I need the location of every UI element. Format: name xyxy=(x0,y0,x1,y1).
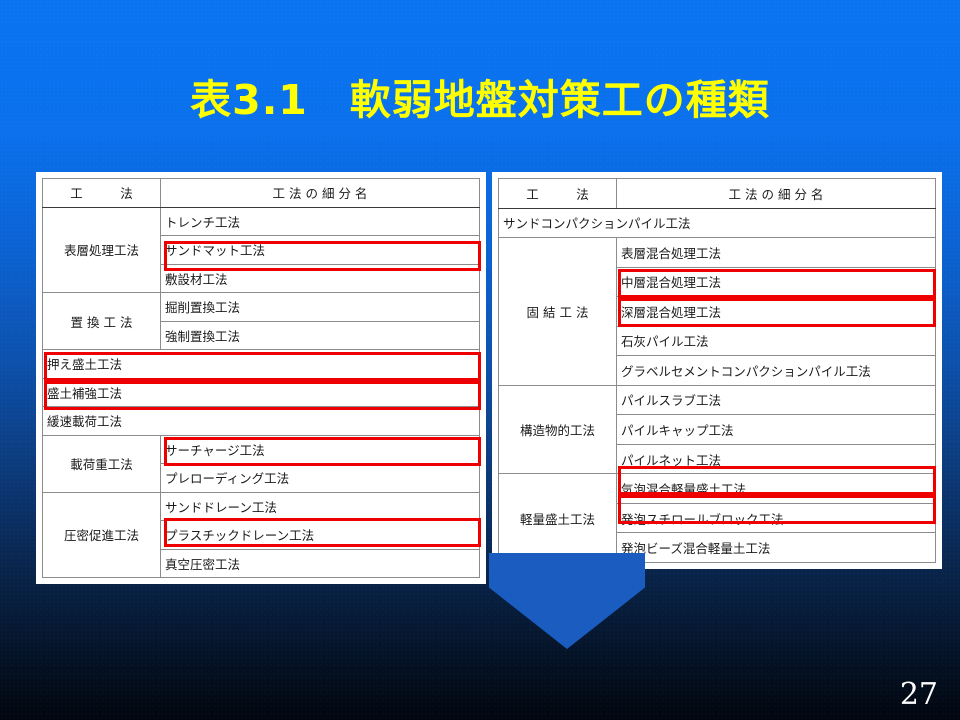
table-row: 軽量盛土工法 気泡混合軽量盛土工法 xyxy=(499,474,936,504)
detail-cell: 発泡スチロールブロック工法 xyxy=(616,503,935,533)
table-row: 表層処理工法 トレンチ工法 xyxy=(43,207,480,236)
page-number: 27 xyxy=(900,680,938,710)
header-detail: 工 法 の 細 分 名 xyxy=(160,179,479,208)
table-row: サンドコンパクションパイル工法 xyxy=(499,208,936,238)
fullwidth-cell: 緩速載荷工法 xyxy=(43,407,480,436)
detail-cell: 気泡混合軽量盛土工法 xyxy=(616,474,935,504)
detail-cell: サンドドレーン工法 xyxy=(160,492,479,521)
detail-cell: 中層混合処理工法 xyxy=(616,267,935,297)
right-table-frame: 工 法 工 法 の 細 分 名 サンドコンパクションパイル工法 固 結 工 法 … xyxy=(492,172,942,569)
left-table: 工 法 工 法 の 細 分 名 表層処理工法 トレンチ工法 サンドマット工法 敷… xyxy=(42,178,480,578)
arrow-down-icon xyxy=(489,553,645,649)
header-category: 工 法 xyxy=(43,179,161,208)
category-chikan: 置 換 工 法 xyxy=(43,293,161,350)
category-kouzoubutsu: 構造物的工法 xyxy=(499,385,617,474)
table-row: 固 結 工 法 表層混合処理工法 xyxy=(499,238,936,268)
right-table: 工 法 工 法 の 細 分 名 サンドコンパクションパイル工法 固 結 工 法 … xyxy=(498,178,936,563)
detail-cell: 真空圧密工法 xyxy=(160,549,479,578)
table-header-row: 工 法 工 法 の 細 分 名 xyxy=(43,179,480,208)
category-saikajuu: 載荷重工法 xyxy=(43,435,161,492)
category-attsumitsu: 圧密促進工法 xyxy=(43,492,161,578)
fullwidth-cell: 盛土補強工法 xyxy=(43,378,480,407)
table-row: 盛土補強工法 xyxy=(43,378,480,407)
detail-cell: サンドマット工法 xyxy=(160,236,479,265)
page-title: 表3.1 軟弱地盤対策工の種類 xyxy=(0,78,960,123)
detail-cell: 強制置換工法 xyxy=(160,321,479,350)
table-row: 載荷重工法 サーチャージ工法 xyxy=(43,435,480,464)
detail-cell: 掘削置換工法 xyxy=(160,293,479,322)
detail-cell: サーチャージ工法 xyxy=(160,435,479,464)
table-row: 押え盛土工法 xyxy=(43,350,480,379)
table-row: 置 換 工 法 掘削置換工法 xyxy=(43,293,480,322)
detail-cell: 石灰パイル工法 xyxy=(616,326,935,356)
detail-cell: パイルスラブ工法 xyxy=(616,385,935,415)
fullwidth-cell: サンドコンパクションパイル工法 xyxy=(499,208,936,238)
detail-cell: 発泡ビーズ混合軽量土工法 xyxy=(616,533,935,563)
category-keiryou-morido: 軽量盛土工法 xyxy=(499,474,617,563)
header-detail: 工 法 の 細 分 名 xyxy=(616,179,935,209)
table-row: 圧密促進工法 サンドドレーン工法 xyxy=(43,492,480,521)
category-koketsu: 固 結 工 法 xyxy=(499,238,617,386)
category-hyousou-shori: 表層処理工法 xyxy=(43,207,161,293)
detail-cell: プレローディング工法 xyxy=(160,464,479,493)
detail-cell: パイルネット工法 xyxy=(616,444,935,474)
fullwidth-cell: 押え盛土工法 xyxy=(43,350,480,379)
slide-canvas: 表3.1 軟弱地盤対策工の種類 工 法 工 法 の 細 分 名 表層処理工法 ト… xyxy=(0,0,960,720)
detail-cell: プラスチックドレーン工法 xyxy=(160,521,479,550)
table-header-row: 工 法 工 法 の 細 分 名 xyxy=(499,179,936,209)
detail-cell: トレンチ工法 xyxy=(160,207,479,236)
table-row: 緩速載荷工法 xyxy=(43,407,480,436)
detail-cell: 敷設材工法 xyxy=(160,264,479,293)
detail-cell: 深層混合処理工法 xyxy=(616,297,935,327)
left-table-frame: 工 法 工 法 の 細 分 名 表層処理工法 トレンチ工法 サンドマット工法 敷… xyxy=(36,172,486,584)
detail-cell: パイルキャップ工法 xyxy=(616,415,935,445)
detail-cell: 表層混合処理工法 xyxy=(616,238,935,268)
table-row: 構造物的工法 パイルスラブ工法 xyxy=(499,385,936,415)
detail-cell: グラベルセメントコンパクションパイル工法 xyxy=(616,356,935,386)
header-category: 工 法 xyxy=(499,179,617,209)
